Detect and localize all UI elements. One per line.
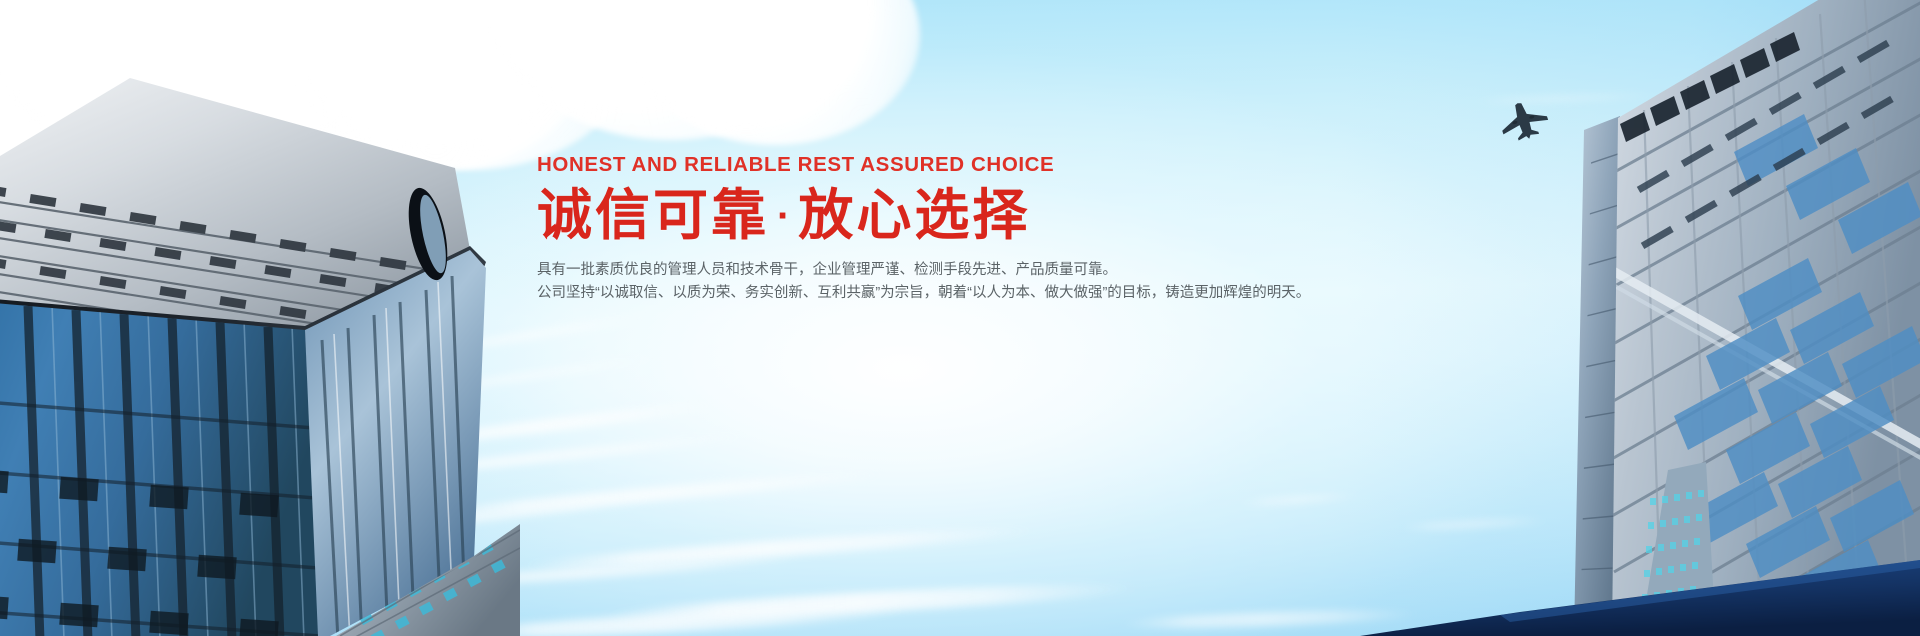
- banner-headline: 诚信可靠·放心选择: [537, 186, 1437, 245]
- headline-part-right: 放心选择: [798, 184, 1030, 246]
- description-line-2: 公司坚持“以诚取信、以质为荣、务实创新、互利共赢”为宗旨，朝着“以人为本、做大做…: [537, 282, 1437, 305]
- headline-separator-dot: ·: [769, 194, 798, 238]
- headline-part-left: 诚信可靠: [537, 184, 769, 246]
- banner-eyebrow-english: HONEST AND RELIABLE REST ASSURED CHOICE: [537, 155, 1437, 176]
- left-skyscraper: [0, 0, 520, 636]
- description-line-1: 具有一批素质优良的管理人员和技术骨干，企业管理严谨、检测手段先进、产品质量可靠。: [537, 259, 1437, 282]
- hero-banner: HONEST AND RELIABLE REST ASSURED CHOICE …: [0, 0, 1920, 636]
- ground-horizon-band: [1360, 516, 1920, 636]
- banner-description: 具有一批素质优良的管理人员和技术骨干，企业管理严谨、检测手段先进、产品质量可靠。…: [537, 259, 1437, 306]
- banner-copy-block: HONEST AND RELIABLE REST ASSURED CHOICE …: [537, 155, 1437, 306]
